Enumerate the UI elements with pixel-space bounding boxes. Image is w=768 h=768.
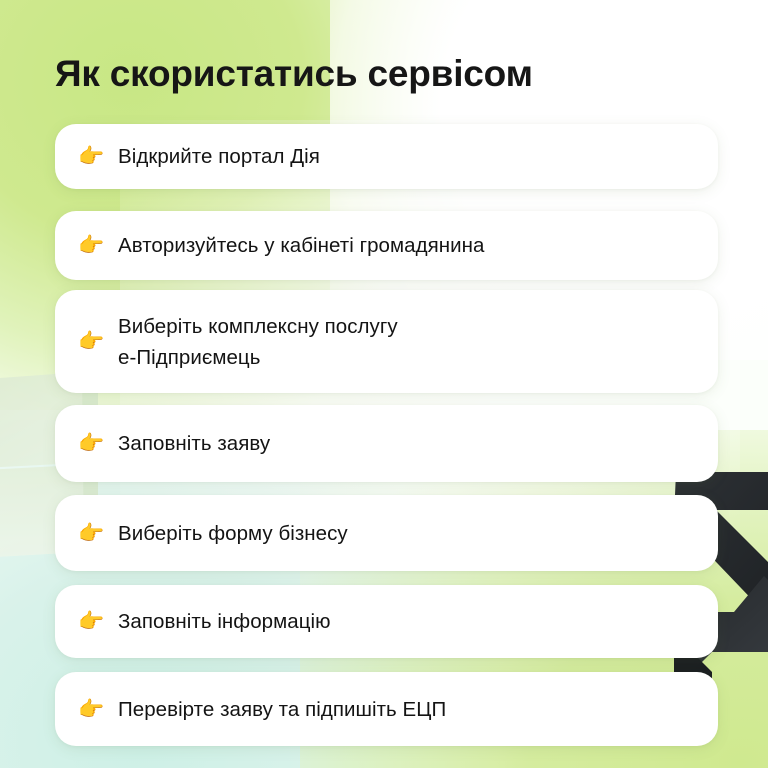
infographic-slide: Як скористатись сервісом 👉 Відкрийте пор… [0,0,768,768]
step-label-4: Заповніть заяву [118,428,718,459]
pointing-right-hand-icon: 👉 [78,146,118,167]
pointing-right-hand-icon: 👉 [78,331,118,352]
step-label-2: Авторизуйтесь у кабінеті громадянина [118,230,718,261]
pointing-right-hand-icon: 👉 [78,235,118,256]
pointing-right-hand-icon: 👉 [78,523,118,544]
step-card-3[interactable]: 👉 Виберіть комплексну послугу е-Підприєм… [55,290,718,393]
step-card-1[interactable]: 👉 Відкрийте портал Дія [55,124,718,189]
step-card-2[interactable]: 👉 Авторизуйтесь у кабінеті громадянина [55,211,718,280]
pointing-right-hand-icon: 👉 [78,611,118,632]
step-card-6[interactable]: 👉 Заповніть інформацію [55,585,718,658]
step-label-7: Перевірте заяву та підпишіть ЕЦП [118,694,718,725]
step-label-5: Виберіть форму бізнесу [118,518,718,549]
pointing-right-hand-icon: 👉 [78,699,118,720]
step-card-7[interactable]: 👉 Перевірте заяву та підпишіть ЕЦП [55,672,718,746]
step-card-4[interactable]: 👉 Заповніть заяву [55,405,718,482]
step-label-3: Виберіть комплексну послугу е-Підприємец… [118,311,718,373]
step-label-6: Заповніть інформацію [118,606,718,637]
page-title: Як скористатись сервісом [55,51,533,97]
pointing-right-hand-icon: 👉 [78,433,118,454]
steps-list: 👉 Відкрийте портал Дія 👉 Авторизуйтесь у… [0,0,768,768]
step-label-1: Відкрийте портал Дія [118,141,718,172]
step-card-5[interactable]: 👉 Виберіть форму бізнесу [55,495,718,571]
